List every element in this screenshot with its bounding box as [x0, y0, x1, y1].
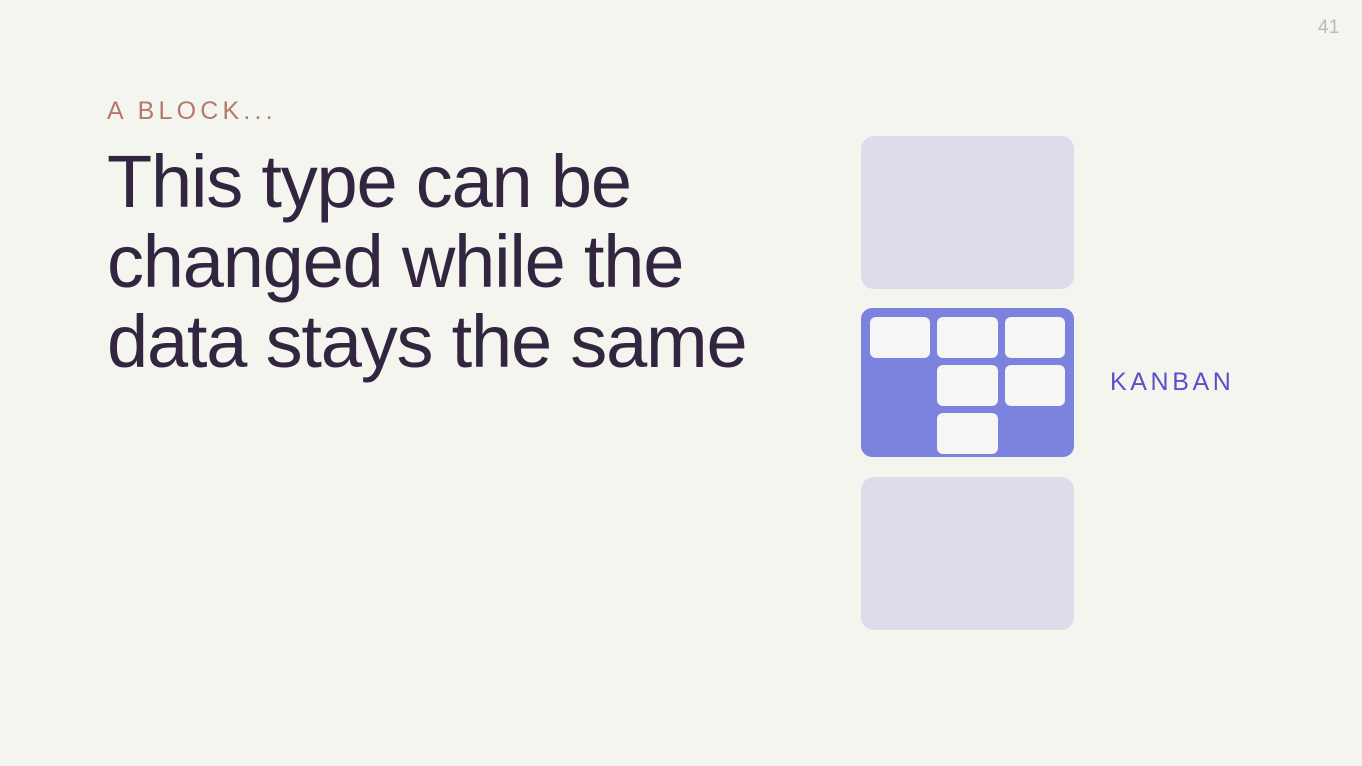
- kanban-tile[interactable]: [1005, 365, 1065, 406]
- slide-canvas: 41 A BLOCK... This type can be changed w…: [0, 0, 1362, 766]
- eyebrow-label: A BLOCK...: [107, 96, 807, 126]
- kanban-tile[interactable]: [937, 413, 997, 454]
- placeholder-block-top: [861, 136, 1074, 289]
- kanban-tile[interactable]: [937, 317, 997, 358]
- kanban-tile[interactable]: [870, 317, 930, 358]
- page-title: This type can be changed while the data …: [107, 142, 767, 382]
- kanban-tile[interactable]: [1005, 317, 1065, 358]
- kanban-row: KANBAN: [861, 308, 1074, 457]
- page-number: 41: [1318, 18, 1340, 37]
- kanban-column-3: [1005, 317, 1065, 448]
- text-column: A BLOCK... This type can be changed whil…: [107, 96, 807, 382]
- visual-column: KANBAN: [861, 136, 1074, 630]
- kanban-column-1: [870, 317, 930, 448]
- kanban-label: KANBAN: [1110, 370, 1234, 395]
- kanban-tile[interactable]: [937, 365, 997, 406]
- kanban-column-2: [937, 317, 997, 448]
- placeholder-block-bottom: [861, 477, 1074, 630]
- kanban-board-card[interactable]: [861, 308, 1074, 457]
